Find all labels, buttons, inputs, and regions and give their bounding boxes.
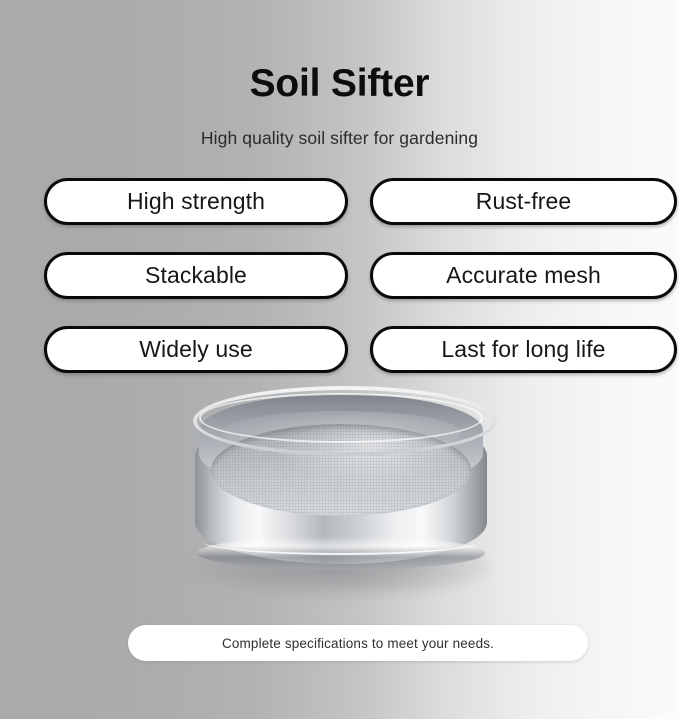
feature-pill-last-for-long-life: Last for long life: [370, 326, 677, 373]
feature-pill-high-strength: High strength: [44, 178, 348, 225]
feature-pill-stackable: Stackable: [44, 252, 348, 299]
feature-pill-accurate-mesh: Accurate mesh: [370, 252, 677, 299]
sifter-bottom-highlight: [201, 527, 481, 555]
product-image-soil-sifter: [185, 386, 497, 601]
page-subtitle: High quality soil sifter for gardening: [0, 128, 679, 149]
page-title: Soil Sifter: [0, 63, 679, 106]
bottom-caption-bar: Complete specifications to meet your nee…: [128, 625, 588, 661]
product-infographic-poster: Soil Sifter High quality soil sifter for…: [0, 0, 679, 719]
feature-pill-rust-free: Rust-free: [370, 178, 677, 225]
sifter-rim-inner-edge: [199, 393, 483, 443]
feature-pill-widely-use: Widely use: [44, 326, 348, 373]
